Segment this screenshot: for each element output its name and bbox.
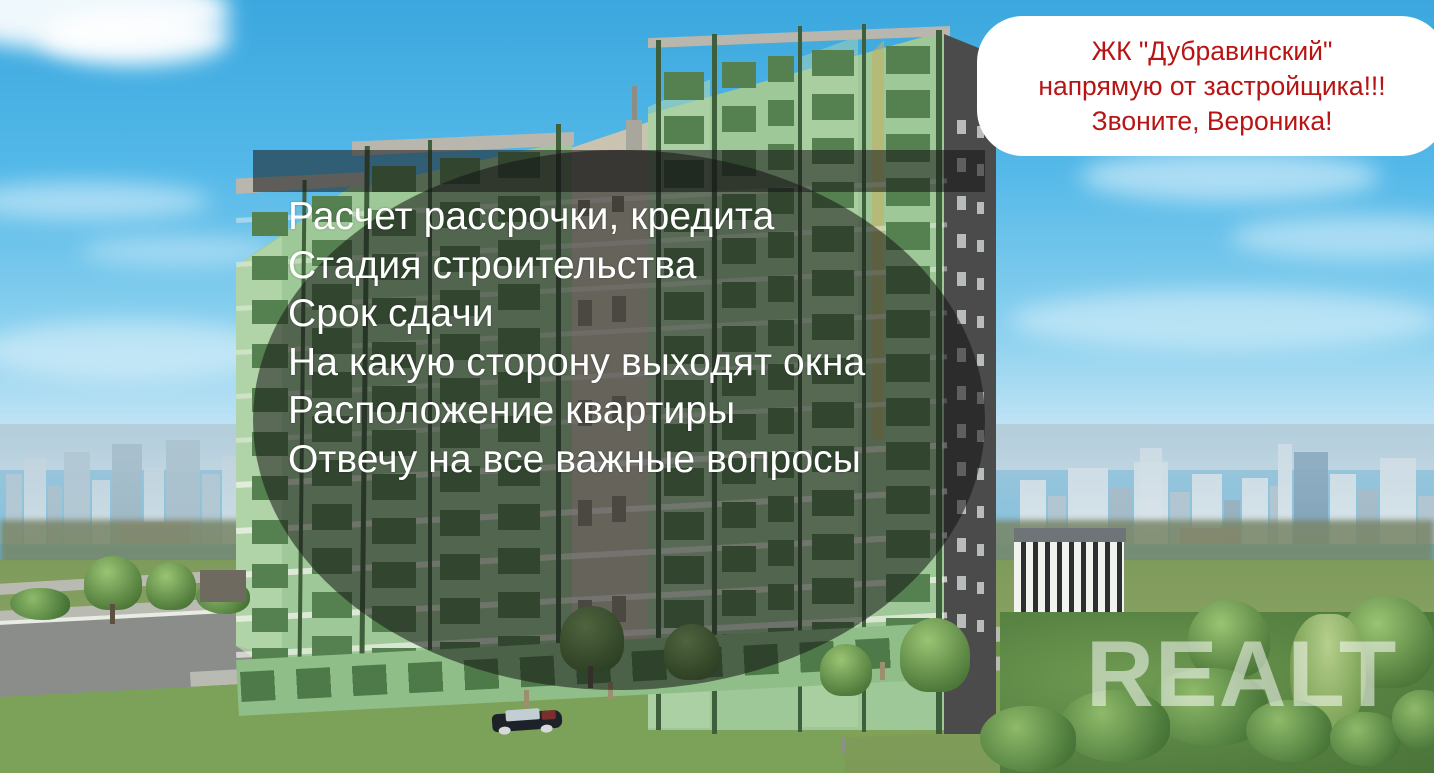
striped-office-roof (1014, 528, 1126, 542)
overlay-text-block: Расчет рассрочки, кредита Стадия строите… (288, 193, 1028, 484)
roof-vent (626, 120, 642, 150)
tree-trunk (110, 604, 115, 624)
foreground-shrub (10, 588, 70, 620)
car-on-road (491, 706, 563, 735)
cloud (40, 10, 230, 65)
foreground-tree (900, 618, 970, 692)
advertisement-image: Расчет рассрочки, кредита Стадия строите… (0, 0, 1434, 773)
bollard (880, 662, 885, 680)
bollard (524, 690, 529, 708)
cloud (1010, 290, 1434, 350)
callout-line-2: напрямую от застройщика!!! (1038, 69, 1385, 104)
dark-scrim-band (253, 150, 985, 192)
foreground-tree (84, 556, 142, 610)
bollard (842, 738, 846, 754)
cloud (1080, 150, 1380, 202)
utility-box (200, 570, 246, 602)
realt-watermark: REALT (1086, 627, 1397, 721)
callout-line-3: Звоните, Вероника! (1092, 104, 1333, 139)
foreground-shrub (980, 706, 1076, 772)
overlay-line-5: Расположение квартиры (288, 387, 1028, 436)
overlay-line-4: На какую сторону выходят окна (288, 339, 1028, 388)
speech-bubble-callout: ЖК "Дубравинский" напрямую от застройщик… (977, 16, 1434, 156)
overlay-line-6: Отвечу на все важные вопросы (288, 436, 1028, 485)
foreground-tree (820, 644, 872, 696)
callout-line-1: ЖК "Дубравинский" (1092, 34, 1333, 69)
overlay-line-3: Срок сдачи (288, 290, 1028, 339)
overlay-line-2: Стадия строительства (288, 242, 1028, 291)
foreground-tree (146, 562, 196, 610)
overlay-line-1: Расчет рассрочки, кредита (288, 193, 1028, 242)
